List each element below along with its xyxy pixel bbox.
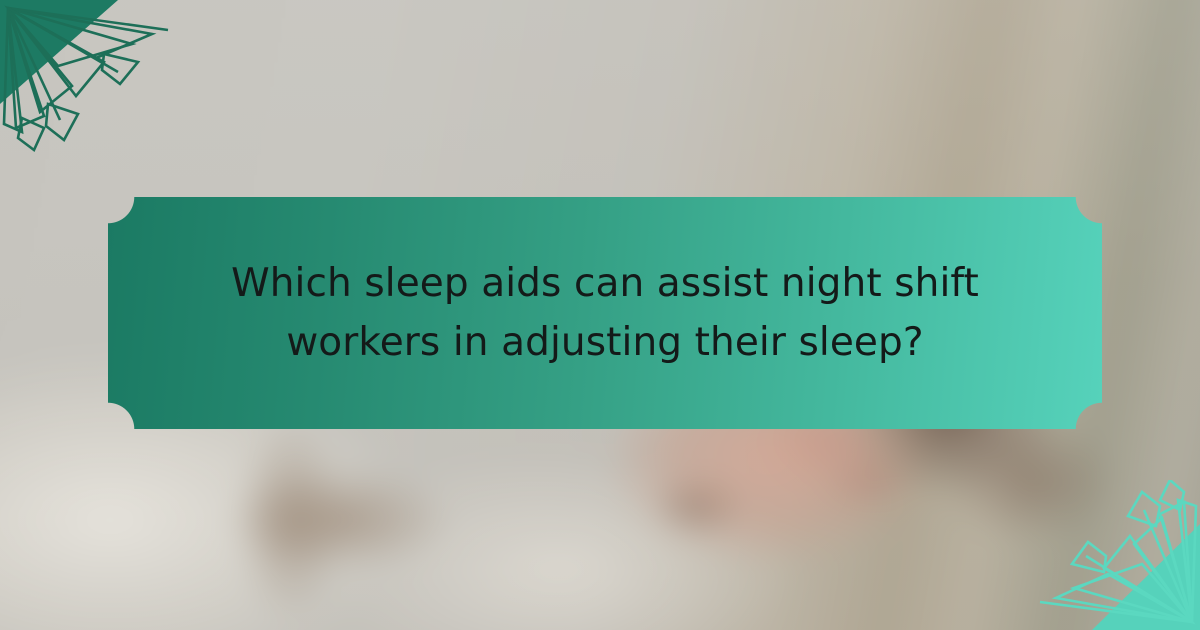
headline-banner: Which sleep aids can assist night shift …	[108, 197, 1102, 429]
share-card-canvas: Which sleep aids can assist night shift …	[0, 0, 1200, 630]
page-title: Which sleep aids can assist night shift …	[108, 254, 1102, 373]
